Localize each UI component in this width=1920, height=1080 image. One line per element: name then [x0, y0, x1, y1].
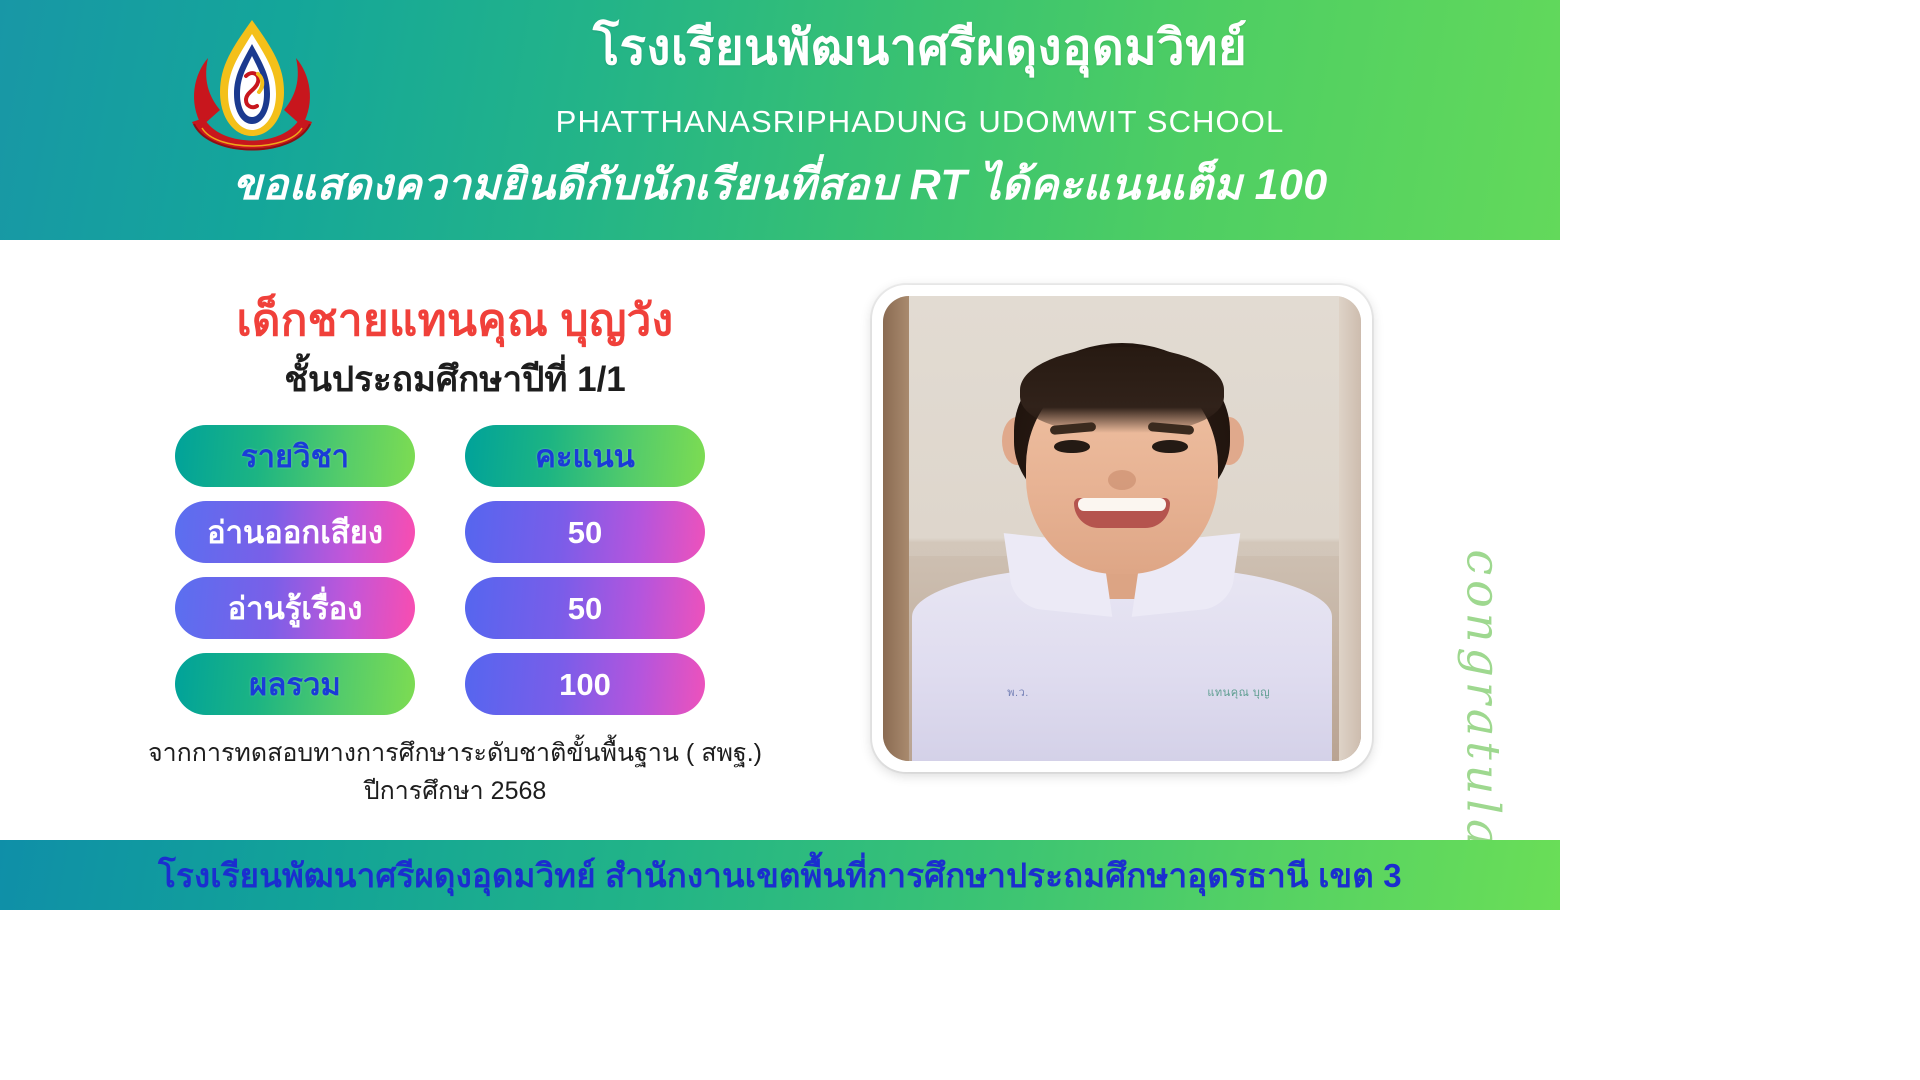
student-photo: พ.ว. แทนคุณ บุญ — [883, 296, 1361, 761]
photo-mouth — [1074, 498, 1170, 528]
cell-subject-total: ผลรวม — [175, 653, 415, 715]
school-emblem-torch-icon — [172, 14, 332, 174]
footer-bar: โรงเรียนพัฒนาศรีผดุงอุดมวิทย์ สำนักงานเข… — [0, 840, 1560, 910]
header-cell-subject: รายวิชา — [175, 425, 415, 487]
photo-left-edge — [883, 296, 909, 761]
photo-right-edge — [1339, 296, 1361, 761]
main-content: เด็กชายแทนคุณ บุญวัง ชั้นประถมศึกษาปีที่… — [0, 240, 1560, 840]
footer-white-space — [0, 910, 1560, 1080]
score-table: รายวิชา คะแนน อ่านออกเสียง 50 อ่านรู้เรื… — [175, 425, 705, 715]
cell-subject: อ่านออกเสียง — [175, 501, 415, 563]
cell-score-total: 100 — [465, 653, 705, 715]
photo-shirt-badge-left: พ.ว. — [1007, 683, 1029, 701]
exam-note: จากการทดสอบทางการศึกษาระดับชาติขั้นพื้นฐ… — [70, 735, 840, 810]
student-class-level: ชั้นประถมศึกษาปีที่ 1/1 — [90, 352, 820, 407]
student-name: เด็กชายแทนคุณ บุญวัง — [90, 285, 820, 355]
table-row: อ่านออกเสียง 50 — [175, 501, 705, 563]
photo-teeth — [1078, 498, 1166, 511]
photo-eye-left — [1054, 440, 1090, 453]
cell-score: 50 — [465, 501, 705, 563]
certificate-page: โรงเรียนพัฒนาศรีผดุงอุดมวิทย์ PHATTHANAS… — [0, 0, 1560, 1080]
table-row: อ่านรู้เรื่อง 50 — [175, 577, 705, 639]
student-photo-frame: พ.ว. แทนคุณ บุญ — [872, 285, 1372, 772]
photo-hair-fringe — [1020, 347, 1224, 433]
footer-text: โรงเรียนพัฒนาศรีผดุงอุดมวิทย์ สำนักงานเข… — [158, 849, 1402, 902]
school-name-english: PHATTHANASRIPHADUNG UDOMWIT SCHOOL — [380, 104, 1460, 140]
photo-eye-right — [1152, 440, 1188, 453]
exam-note-line1: จากการทดสอบทางการศึกษาระดับชาติขั้นพื้นฐ… — [70, 735, 840, 773]
header-cell-score: คะแนน — [465, 425, 705, 487]
cell-score: 50 — [465, 577, 705, 639]
school-name-thai: โรงเรียนพัฒนาศรีผดุงอุดมวิทย์ — [380, 18, 1460, 79]
congratulation-headline: ขอแสดงความยินดีกับนักเรียนที่สอบ RT ได้ค… — [0, 160, 1560, 212]
cell-subject: อ่านรู้เรื่อง — [175, 577, 415, 639]
table-header-row: รายวิชา คะแนน — [175, 425, 705, 487]
header-banner: โรงเรียนพัฒนาศรีผดุงอุดมวิทย์ PHATTHANAS… — [0, 0, 1560, 240]
table-total-row: ผลรวม 100 — [175, 653, 705, 715]
exam-note-line2: ปีการศึกษา 2568 — [70, 773, 840, 811]
photo-shirt-badge-right: แทนคุณ บุญ — [1207, 683, 1270, 701]
